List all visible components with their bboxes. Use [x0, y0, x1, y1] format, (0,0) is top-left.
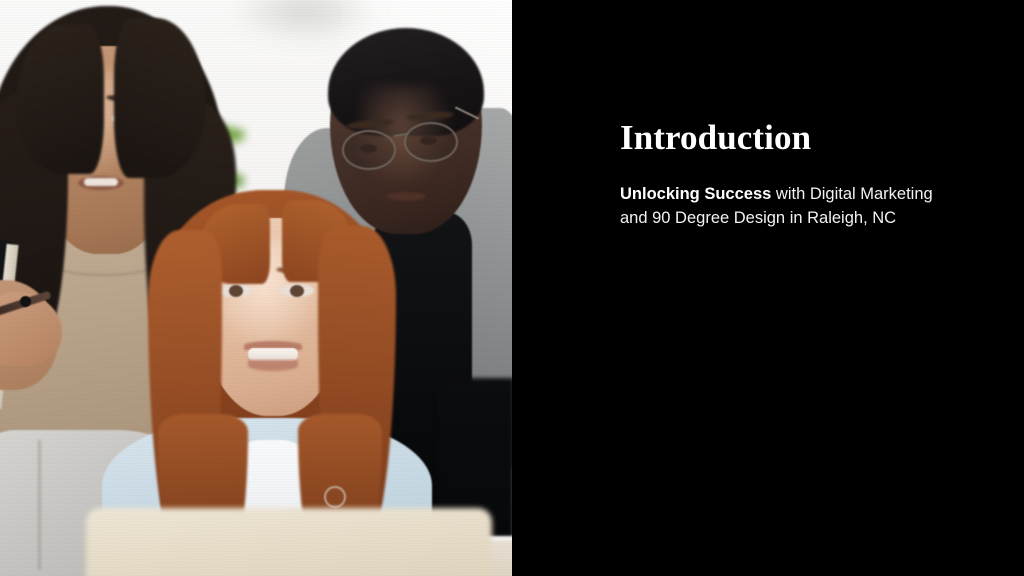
photo-grain-overlay: [0, 0, 512, 576]
slide-title: Introduction: [620, 118, 964, 157]
slide-text-panel: Introduction Unlocking Success with Digi…: [512, 0, 1024, 576]
slide-subtitle-emphasis: Unlocking Success: [620, 185, 771, 203]
slide-text-block: Introduction Unlocking Success with Digi…: [620, 118, 964, 230]
slide-photo: [0, 0, 512, 576]
presentation-slide: Introduction Unlocking Success with Digi…: [0, 0, 1024, 576]
slide-subtitle: Unlocking Success with Digital Marketing…: [620, 183, 964, 230]
